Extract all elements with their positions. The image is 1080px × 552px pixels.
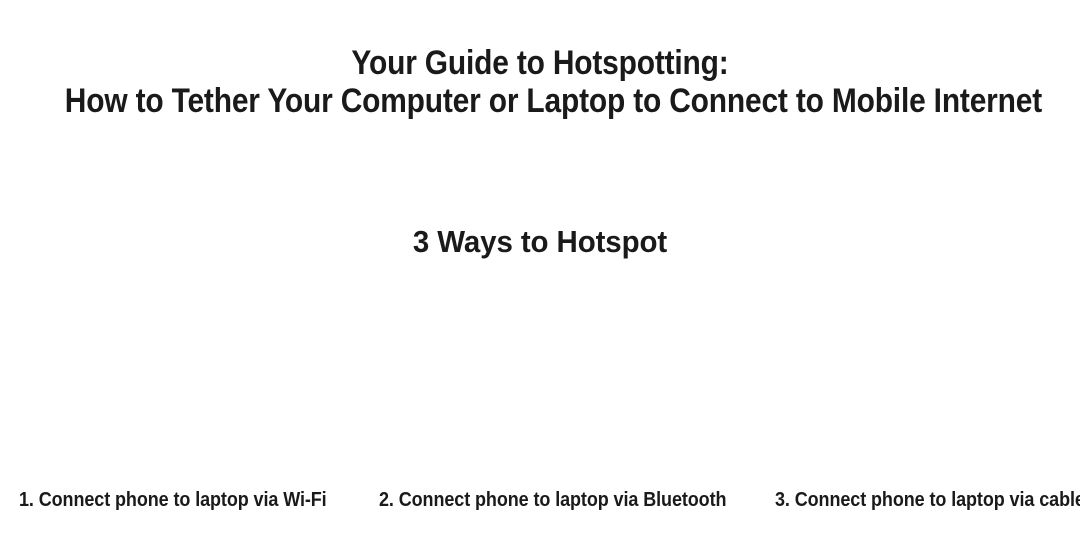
title-line-2: How to Tether Your Computer or Laptop to… xyxy=(65,82,1015,120)
illustration-slot-wifi xyxy=(0,282,360,478)
illustration-slot-bluetooth xyxy=(360,282,720,478)
illustration-slot-cable xyxy=(720,282,1080,478)
title-line-1: Your Guide to Hotspotting: xyxy=(65,44,1015,82)
caption-cable: 3. Connect phone to laptop via cable xyxy=(775,487,1080,513)
caption-bluetooth: 2. Connect phone to laptop via Bluetooth xyxy=(379,487,726,513)
section-heading: 3 Ways to Hotspot xyxy=(27,224,1053,260)
caption-wifi: 1. Connect phone to laptop via Wi-Fi xyxy=(19,487,327,513)
illustration-area xyxy=(0,282,1080,478)
caption-row: 1. Connect phone to laptop via Wi-Fi 2. … xyxy=(0,487,1080,517)
page-title: Your Guide to Hotspotting: How to Tether… xyxy=(0,44,1080,120)
infographic-page: Your Guide to Hotspotting: How to Tether… xyxy=(0,0,1080,552)
